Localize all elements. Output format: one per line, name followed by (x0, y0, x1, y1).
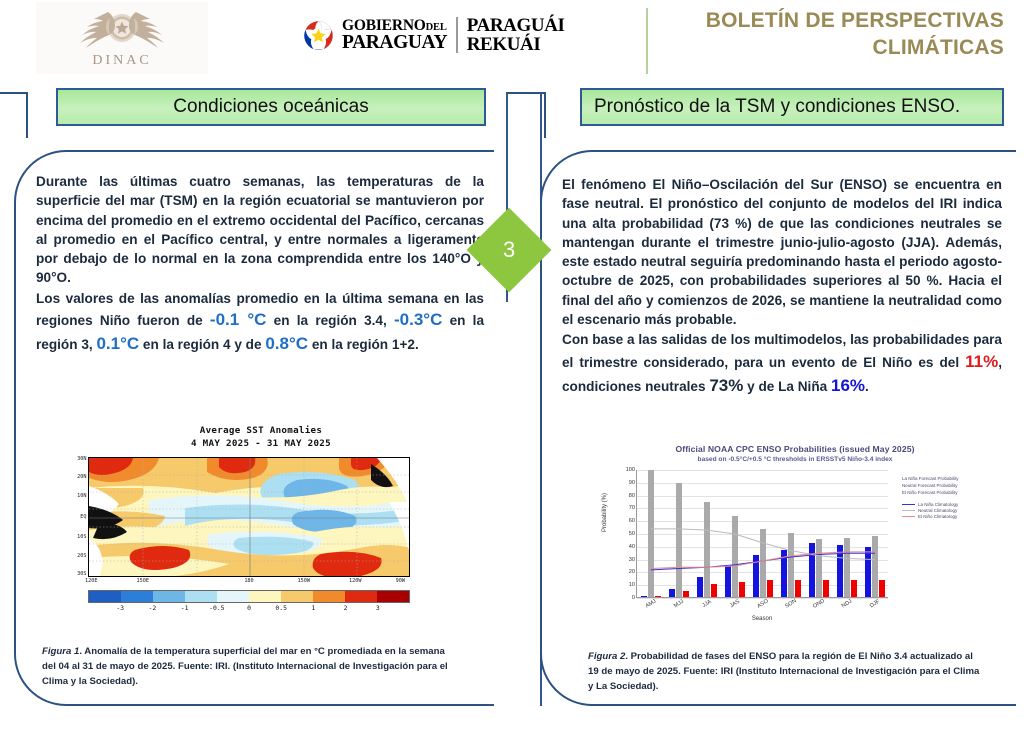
right-p2-seg3: y de La Niña (743, 379, 831, 394)
y-tick-label: 40 (629, 544, 635, 550)
figure-1-caption: Figura 1. Anomalía de la temperatura sup… (42, 645, 454, 690)
figure-2-legend: La Niña Forecast ProbabilityNeutral Fore… (902, 476, 998, 519)
left-p2-seg5: en la región 1+2. (308, 337, 419, 352)
bar-nina-AMJ (641, 596, 647, 597)
section-banner-oceanic-conditions: Condiciones oceánicas (56, 88, 486, 126)
right-paragraph-1: El fenómeno El Niño–Oscilación del Sur (… (562, 175, 1002, 329)
figure-2-title: Official NOAA CPC ENSO Probabilities (is… (590, 444, 1000, 454)
figure-2-enso-chart: Official NOAA CPC ENSO Probabilities (is… (590, 444, 1000, 634)
bar-nino-AMJ (655, 596, 661, 597)
x-tick-label-ASO: ASO (756, 598, 769, 609)
legend-forecast-entry: La Niña Forecast Probability (902, 476, 998, 483)
dinac-logo-text: DINAC (92, 53, 151, 69)
y-tick-label: 0 (632, 595, 635, 601)
sst-map-svg (89, 458, 410, 577)
colorbar-tick-4: 0 (247, 604, 251, 612)
map-ytick-0: 30N (77, 456, 86, 462)
sst-map-canvas (88, 457, 410, 577)
bar-nino-OND (823, 580, 829, 597)
gov-guarani-line2: REKUÁI (467, 35, 565, 54)
left-paragraph-2: Los valores de las anomalías promedio en… (36, 289, 484, 357)
value-nino34: -0.1 °C (210, 310, 267, 329)
bar-nina-SON (781, 550, 787, 597)
y-tick-label: 80 (629, 493, 635, 499)
bar-group (805, 470, 833, 597)
y-tick-label: 60 (629, 518, 635, 524)
figure-2-ylabel: Probability (%) (602, 493, 608, 532)
page-title: BOLETÍN DE PERSPECTIVAS CLIMÁTICAS (604, 8, 1004, 62)
banner-left-label: Condiciones oceánicas (173, 96, 368, 118)
bar-nino-ASO (767, 580, 773, 597)
paraguay-emblem-icon (303, 20, 334, 51)
colorbar-tick-0: -3 (116, 604, 124, 612)
bar-nino-MJJ (683, 591, 689, 597)
x-tick-label-SON: SON (784, 598, 797, 610)
legend-swatch (902, 510, 915, 511)
figure-2-plot-area: 0102030405060708090100AMJMJJJJAJASASOSON… (636, 470, 888, 598)
left-column-body: Durante las últimas cuatro semanas, las … (36, 172, 484, 357)
legend-climatology-entry: Neutral Climatology (902, 508, 998, 513)
sst-colorbar: -3-2-1-0.500.5123 (88, 590, 410, 603)
bar-nino-SON (795, 580, 801, 597)
sst-colorbar-swatches (88, 590, 410, 603)
bar-nino-JAS (739, 582, 745, 597)
page-header: DINAC GOBIERNODEL PARAGUAY PARAGUÁI REKU… (0, 0, 1024, 88)
figure-2-caption-label: Figura 2 (588, 651, 625, 662)
gov-line1-small: DEL (426, 22, 447, 33)
bar-neutral-ASO (760, 529, 766, 597)
colorbar-tick-3: -0.5 (209, 604, 224, 612)
figure-1-caption-text: . Anomalía de la temperatura superficial… (42, 646, 448, 687)
bar-nina-ASO (753, 555, 759, 597)
bar-nina-DJF (865, 547, 871, 597)
map-xtick-5: 90W (396, 578, 405, 584)
x-tick-label-OND: OND (812, 598, 826, 610)
bar-neutral-OND (816, 539, 822, 597)
legend-climatology-entry: La Niña Climatology (902, 502, 998, 507)
legend-label: Neutral Climatology (918, 508, 957, 513)
map-xtick-3: 150W (297, 578, 310, 584)
gov-guarani-line1: PARAGUÁI (467, 16, 565, 35)
bar-group (637, 470, 665, 597)
colorbar-tick-2: -1 (181, 604, 189, 612)
figure-1-title-line2: 4 MAY 2025 - 31 MAY 2025 (62, 437, 460, 450)
bar-group (861, 470, 889, 597)
colorbar-tick-7: 2 (344, 604, 348, 612)
bar-neutral-AMJ (648, 470, 654, 597)
bar-group (749, 470, 777, 597)
y-tick-label: 10 (629, 582, 635, 588)
y-tick-label: 50 (629, 531, 635, 537)
dinac-wings-icon (47, 8, 197, 52)
gov-line2: PARAGUAY (342, 33, 447, 53)
bar-group (777, 470, 805, 597)
bar-nina-JJA (697, 577, 703, 597)
y-tick-label: 30 (629, 557, 635, 563)
colorbar-swatch-3 (185, 591, 217, 602)
left-bracket-horizontal (0, 92, 28, 94)
page-number-label: 3 (503, 237, 515, 263)
bar-nino-NDJ (851, 580, 857, 597)
figure-1-sst-map: Average SST Anomalies 4 MAY 2025 - 31 MA… (62, 424, 460, 632)
value-lanina-prob: 16% (831, 376, 865, 395)
colorbar-swatch-8 (345, 591, 377, 602)
bar-nina-JAS (725, 566, 731, 597)
value-neutral-prob: 73% (709, 376, 743, 395)
banner-right-label: Pronóstico de la TSM y condiciones ENSO. (594, 96, 960, 118)
x-tick-label-DJF: DJF (869, 599, 881, 610)
legend-swatch (902, 516, 915, 517)
map-xtick-2: 180 (244, 578, 253, 584)
colorbar-tick-5: 0.5 (275, 604, 287, 612)
left-p2-seg2: en la región 3.4, (266, 313, 394, 328)
y-tick-label: 70 (629, 505, 635, 511)
gov-logo-divider (456, 17, 458, 53)
y-tick-label: 20 (629, 569, 635, 575)
right-p2-seg1: Con base a las salidas de los multimodel… (562, 332, 1002, 369)
bar-group (721, 470, 749, 597)
colorbar-swatch-1 (121, 591, 153, 602)
left-bracket-vertical (26, 92, 28, 138)
map-ytick-1: 20N (77, 474, 86, 480)
section-banner-tsm-enso-forecast: Pronóstico de la TSM y condiciones ENSO. (580, 88, 1004, 126)
map-xtick-1: 150E (136, 578, 149, 584)
center-bracket-vertical (544, 92, 546, 138)
page-title-line2: CLIMÁTICAS (604, 35, 1004, 62)
bar-group (693, 470, 721, 597)
legend-swatch (902, 504, 915, 505)
legend-spacer (902, 497, 998, 501)
bar-neutral-JJA (704, 502, 710, 597)
figure-2-subtitle: based on -0.5°C/+0.5 °C thresholds in ER… (590, 456, 1000, 463)
bar-nina-OND (809, 543, 815, 597)
figure-1-title-line1: Average SST Anomalies (62, 424, 460, 437)
figure-2-caption-text: . Probabilidad de fases del ENSO para la… (588, 651, 979, 692)
right-column-body: El fenómeno El Niño–Oscilación del Sur (… (562, 175, 1002, 399)
figure-1-title: Average SST Anomalies 4 MAY 2025 - 31 MA… (62, 424, 460, 451)
colorbar-swatch-7 (313, 591, 345, 602)
left-paragraph-1: Durante las últimas cuatro semanas, las … (36, 172, 484, 288)
bar-group (665, 470, 693, 597)
value-elnino-prob: 11% (965, 352, 998, 371)
map-ytick-3: EQ (80, 514, 86, 520)
figure-2-xlabel: Season (636, 616, 888, 622)
map-xtick-4: 120W (349, 578, 362, 584)
value-nino3: -0.3°C (394, 310, 442, 329)
right-connector-line (540, 92, 542, 150)
colorbar-swatch-2 (153, 591, 185, 602)
bar-group (833, 470, 861, 597)
map-xtick-0: 120E (85, 578, 98, 584)
map-ytick-4: 10S (77, 534, 86, 540)
x-tick-label-JAS: JAS (729, 599, 741, 610)
bar-neutral-JAS (732, 516, 738, 597)
legend-forecast-entry: El Niño Forecast Probability (902, 490, 998, 497)
dinac-logo: DINAC (36, 2, 208, 74)
y-tick-label: 100 (626, 467, 635, 473)
bar-nina-MJJ (669, 589, 675, 597)
colorbar-swatch-5 (249, 591, 281, 602)
colorbar-swatch-6 (281, 591, 313, 602)
legend-label: El Niño Climatology (918, 514, 957, 519)
legend-label: La Niña Climatology (918, 502, 958, 507)
figure-1-caption-label: Figura 1 (42, 646, 79, 657)
left-p2-seg4: en la región 4 y de (139, 337, 265, 352)
bar-nino-DJF (879, 580, 885, 597)
bar-nina-NDJ (837, 545, 843, 597)
map-ytick-5: 20S (77, 553, 86, 559)
figure-2-caption: Figura 2. Probabilidad de fases del ENSO… (588, 650, 986, 695)
colorbar-tick-1: -2 (149, 604, 157, 612)
gobierno-paraguay-logo: GOBIERNODEL PARAGUAY PARAGUÁI REKUÁI (303, 16, 565, 55)
colorbar-tick-8: 3 (376, 604, 380, 612)
legend-climatology-entry: El Niño Climatology (902, 514, 998, 519)
colorbar-tick-6: 1 (311, 604, 315, 612)
value-nino12: 0.8°C (265, 334, 308, 353)
colorbar-swatch-9 (377, 591, 409, 602)
colorbar-swatch-4 (217, 591, 249, 602)
legend-forecast-entry: Neutral Forecast Probability (902, 483, 998, 490)
colorbar-swatch-0 (89, 591, 121, 602)
map-ytick-6: 30S (77, 571, 86, 577)
bar-neutral-MJJ (676, 483, 682, 597)
x-tick-label-AMJ: AMJ (645, 598, 658, 609)
x-tick-label-JJA: JJA (701, 599, 712, 609)
x-tick-label-MJJ: MJJ (673, 599, 685, 610)
value-nino4: 0.1°C (96, 334, 139, 353)
sst-map-wrapper: 30N 20N 10N EQ 10S 20S 30S 120E 150E 180… (88, 457, 410, 577)
right-paragraph-2: Con base a las salidas de los multimodel… (562, 330, 1002, 398)
map-ytick-2: 10N (77, 493, 86, 499)
bar-neutral-DJF (872, 536, 878, 597)
right-p2-seg4: . (865, 379, 869, 394)
bar-neutral-SON (788, 533, 794, 597)
bar-nino-JJA (711, 584, 717, 597)
y-tick-label: 90 (629, 480, 635, 486)
bar-neutral-NDJ (844, 538, 850, 597)
x-tick-label-NDJ: NDJ (841, 599, 853, 610)
page-title-line1: BOLETÍN DE PERSPECTIVAS (604, 8, 1004, 35)
gov-line1: GOBIERNO (342, 17, 426, 34)
